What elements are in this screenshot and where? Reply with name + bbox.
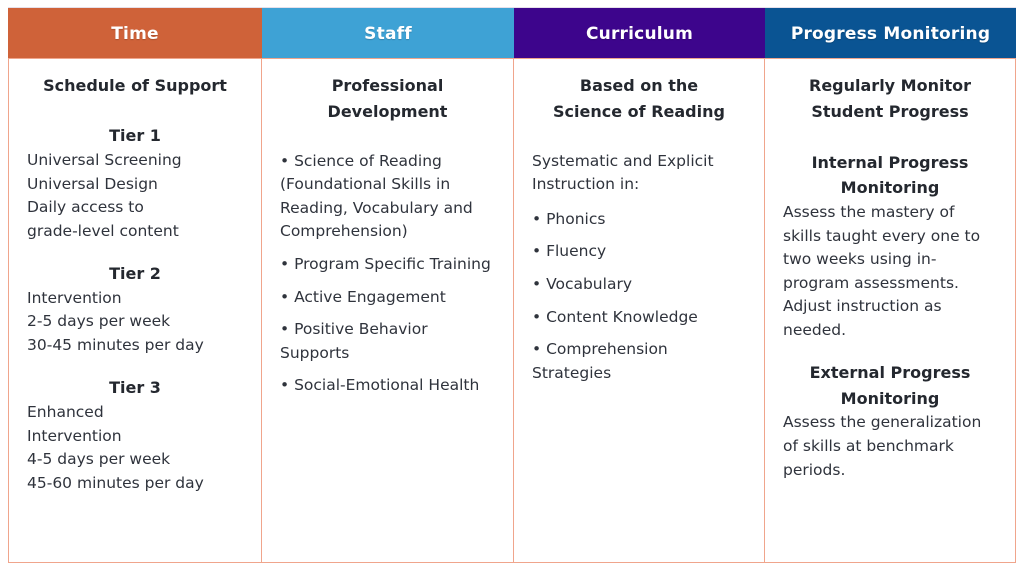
list-item: • Positive Behavior Supports xyxy=(280,318,495,365)
external-monitoring-body: Assess the generalization of skills at b… xyxy=(783,411,997,482)
curriculum-title: Based on the Science of Reading xyxy=(532,73,746,126)
curriculum-title-line: Based on the xyxy=(532,73,746,99)
tier-2-line: 30-45 minutes per day xyxy=(27,334,243,358)
progress-title-line: Student Progress xyxy=(783,99,997,125)
mtss-reading-framework-table: Time Staff Curriculum Progress Monitorin… xyxy=(0,0,1024,576)
table-body-row: Schedule of Support Tier 1 Universal Scr… xyxy=(8,58,1016,563)
staff-title-line: Development xyxy=(280,99,495,125)
spacer xyxy=(27,243,243,261)
tier-1-line: grade-level content xyxy=(27,220,243,244)
list-item: • Comprehension Strategies xyxy=(532,338,746,385)
column-header-curriculum: Curriculum xyxy=(514,8,765,59)
tier-3-line: Intervention xyxy=(27,425,243,449)
column-header-staff-label: Staff xyxy=(364,24,412,44)
spacer xyxy=(783,342,997,360)
progress-title: Regularly Monitor Student Progress xyxy=(783,73,997,126)
curriculum-title-line: Science of Reading xyxy=(532,99,746,125)
tier-3-line: 4-5 days per week xyxy=(27,448,243,472)
external-monitoring-heading-line: External Progress xyxy=(783,360,997,386)
spacer xyxy=(532,197,746,208)
tier-2-line: Intervention xyxy=(27,287,243,311)
list-item: • Active Engagement xyxy=(280,286,495,310)
list-item: • Content Knowledge xyxy=(532,306,746,330)
external-monitoring-heading-line: Monitoring xyxy=(783,386,997,412)
column-body-staff: Professional Development • Science of Re… xyxy=(262,59,514,562)
tier-1-line: Universal Screening xyxy=(27,149,243,173)
tier-2-lines: Intervention 2-5 days per week 30-45 min… xyxy=(27,287,243,358)
staff-title-line: Professional xyxy=(280,73,495,99)
column-header-time-label: Time xyxy=(111,24,158,44)
list-item: • Social-Emotional Health xyxy=(280,374,495,398)
tier-2-heading: Tier 2 xyxy=(27,261,243,287)
list-item: • Vocabulary xyxy=(532,273,746,297)
spacer xyxy=(27,105,243,123)
tier-1-line: Daily access to xyxy=(27,196,243,220)
staff-bullet-list: • Science of Reading (Foundational Skill… xyxy=(280,150,495,398)
column-header-staff: Staff xyxy=(262,8,514,59)
spacer xyxy=(783,132,997,150)
curriculum-bullet-list: • Phonics • Fluency • Vocabulary • Conte… xyxy=(532,208,746,385)
tier-3-line: Enhanced xyxy=(27,401,243,425)
column-header-progress-monitoring: Progress Monitoring xyxy=(765,8,1016,59)
column-body-time: Schedule of Support Tier 1 Universal Scr… xyxy=(9,59,262,562)
internal-monitoring-body: Assess the mastery of skills taught ever… xyxy=(783,201,997,342)
list-item: • Program Specific Training xyxy=(280,253,495,277)
spacer xyxy=(27,357,243,375)
column-body-curriculum: Based on the Science of Reading Systemat… xyxy=(514,59,765,562)
column-body-progress-monitoring: Regularly Monitor Student Progress Inter… xyxy=(765,59,1015,562)
tier-1-heading: Tier 1 xyxy=(27,123,243,149)
tier-3-lines: Enhanced Intervention 4-5 days per week … xyxy=(27,401,243,495)
internal-monitoring-heading-line: Internal Progress xyxy=(783,150,997,176)
tier-3-heading: Tier 3 xyxy=(27,375,243,401)
time-title: Schedule of Support xyxy=(27,73,243,99)
tier-1-line: Universal Design xyxy=(27,173,243,197)
tier-3-line: 45-60 minutes per day xyxy=(27,472,243,496)
internal-monitoring-heading-line: Monitoring xyxy=(783,175,997,201)
column-header-curriculum-label: Curriculum xyxy=(586,24,693,44)
spacer xyxy=(532,132,746,150)
tier-2-line: 2-5 days per week xyxy=(27,310,243,334)
list-item: • Science of Reading (Foundational Skill… xyxy=(280,150,495,244)
staff-title: Professional Development xyxy=(280,73,495,126)
column-header-time: Time xyxy=(8,8,262,59)
progress-title-line: Regularly Monitor xyxy=(783,73,997,99)
column-header-progress-monitoring-label: Progress Monitoring xyxy=(791,24,990,44)
list-item: • Fluency xyxy=(532,240,746,264)
table-header-row: Time Staff Curriculum Progress Monitorin… xyxy=(8,7,1016,59)
tier-1-lines: Universal Screening Universal Design Dai… xyxy=(27,149,243,243)
curriculum-intro: Systematic and Explicit Instruction in: xyxy=(532,150,746,197)
spacer xyxy=(280,132,495,150)
list-item: • Phonics xyxy=(532,208,746,232)
